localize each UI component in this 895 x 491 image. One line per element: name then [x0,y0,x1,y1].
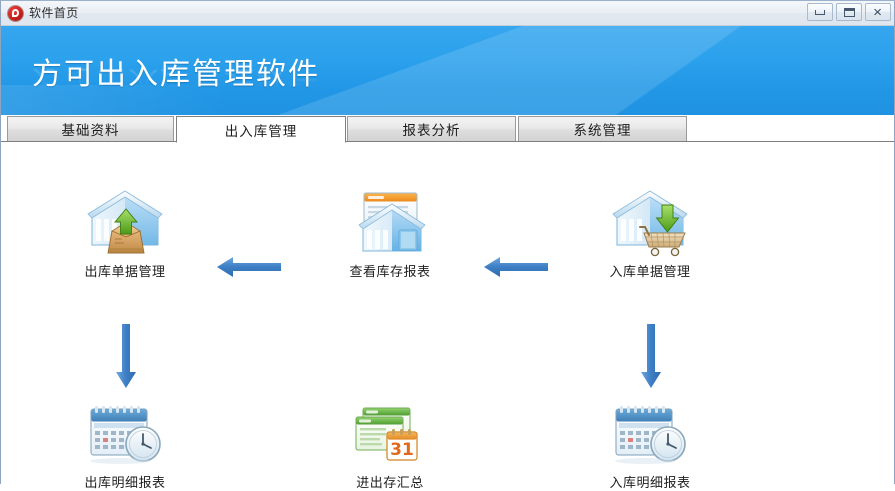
tab-system-management-label: 系统管理 [574,119,632,139]
green-windows-calendar-31-icon: 31 [315,395,465,473]
node-outbound-detail-report[interactable]: 出库明细报表 [50,395,200,490]
tab-inout-management-label: 出入库管理 [225,120,298,140]
tab-system-management[interactable]: 系统管理 [518,116,687,142]
calendar-clock-icon [50,395,200,473]
arrow-down-inbound-to-detail [638,322,664,394]
tab-report-analysis-label: 报表分析 [403,119,461,139]
banner-highlight-streak [258,26,894,115]
node-inbound-document-management[interactable]: 入库单据管理 [575,184,725,279]
arrow-left-inventory-to-outbound [215,254,283,284]
node-label: 查看库存报表 [315,266,465,279]
warehouse-report-window-icon [315,184,465,262]
tab-strip: 基础资料 出入库管理 报表分析 系统管理 [1,115,894,142]
minimize-icon [815,10,825,15]
node-label: 出库单据管理 [50,266,200,279]
warehouse-outbound-box-icon [50,184,200,262]
node-view-inventory-report[interactable]: 查看库存报表 [315,184,465,279]
warehouse-inbound-cart-icon [575,184,725,262]
maximize-button[interactable] [836,3,862,21]
tab-basic-data[interactable]: 基础资料 [7,116,174,142]
window-controls: ✕ [807,3,891,21]
title-bar-left: 软件首页 [1,6,79,21]
app-logo-icon [8,6,23,21]
tab-report-analysis[interactable]: 报表分析 [347,116,516,142]
tab-inout-management[interactable]: 出入库管理 [176,116,346,143]
app-banner: 方可出入库管理软件 方可出入库管理软件 [1,26,894,115]
title-bar: 软件首页 ✕ [1,1,894,26]
close-button[interactable]: ✕ [865,3,891,21]
close-icon: ✕ [873,7,883,18]
minimize-button[interactable] [807,3,833,21]
arrow-left-inbound-to-inventory [482,254,550,284]
node-inout-stock-summary[interactable]: 31 进出存汇总 [315,395,465,490]
application-window: 软件首页 ✕ 方可出入库管理软件 方可出入库管理软件 基础资料 出入库管理 [0,0,895,484]
tab-basic-data-label: 基础资料 [62,119,120,139]
banner-title: 方可出入库管理软件 [32,60,320,90]
node-outbound-document-management[interactable]: 出库单据管理 [50,184,200,279]
window-title: 软件首页 [29,7,79,19]
calendar-day-number: 31 [390,440,414,460]
arrow-down-outbound-to-detail [113,322,139,394]
calendar-clock-icon [575,395,725,473]
workflow-content-panel: 出库单据管理 [1,142,894,483]
node-label: 入库单据管理 [575,266,725,279]
tab-strip-underline [1,141,894,142]
maximize-icon [844,8,855,17]
node-inbound-detail-report[interactable]: 入库明细报表 [575,395,725,490]
